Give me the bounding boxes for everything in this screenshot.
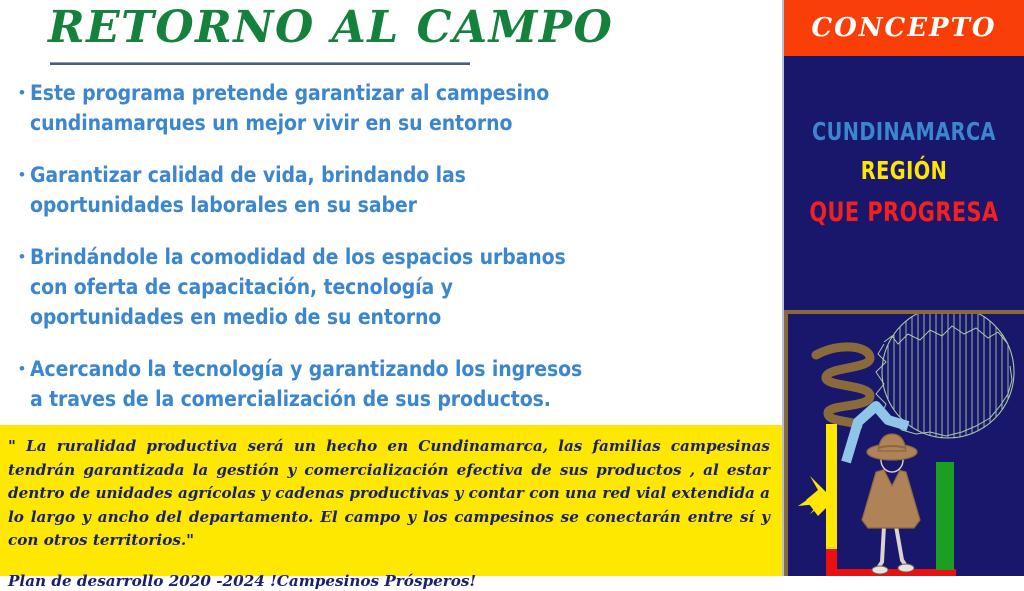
quote-body: " La ruralidad productiva será un hecho … <box>8 435 770 553</box>
sidebar: CONCEPTO CUNDINAMARCA REGIÓN QUE PROGRES… <box>782 0 1024 576</box>
logo-line-cundinamarca: CUNDINAMARCA <box>801 116 1007 147</box>
bullet-text: Acercando la tecnología y garantizando l… <box>30 354 582 414</box>
campesino-illustration <box>784 310 1024 576</box>
red-horizontal-bar <box>826 569 956 576</box>
bullet-marker-icon: • <box>14 354 30 384</box>
bullet-text: Garantizar calidad de vida, brindando la… <box>30 160 466 220</box>
concepto-label: CONCEPTO <box>811 13 996 43</box>
bullet-marker-icon: • <box>14 78 30 108</box>
bullet-text: Este programa pretende garantizar al cam… <box>30 78 549 138</box>
title-divider <box>50 62 470 65</box>
bullet-list: • Este programa pretende garantizar al c… <box>14 78 714 436</box>
page-title: RETORNO AL CAMPO <box>48 2 613 53</box>
bullet-text: Brindándole la comodidad de los espacios… <box>30 242 566 332</box>
list-item: • Este programa pretende garantizar al c… <box>14 78 714 138</box>
logo-line-que-progresa: QUE PROGRESA <box>801 196 1007 230</box>
slide-root: RETORNO AL CAMPO • Este programa pretend… <box>0 0 1024 576</box>
list-item: • Brindándole la comodidad de los espaci… <box>14 242 714 332</box>
green-vertical-bar <box>936 462 954 570</box>
quote-callout: " La ruralidad productiva será un hecho … <box>0 425 782 576</box>
cundinamarca-logo: CUNDINAMARCA REGIÓN QUE PROGRESA <box>784 116 1024 229</box>
bullet-marker-icon: • <box>14 242 30 272</box>
concepto-banner: CONCEPTO <box>784 0 1024 56</box>
bullet-marker-icon: • <box>14 160 30 190</box>
yellow-vertical-bar <box>826 424 837 549</box>
list-item: • Acercando la tecnología y garantizando… <box>14 354 714 414</box>
content-pane: RETORNO AL CAMPO • Este programa pretend… <box>0 0 782 576</box>
quote-signature: Plan de desarrollo 2020 -2024 !Campesino… <box>8 571 770 591</box>
logo-line-region: REGIÓN <box>801 155 1007 186</box>
list-item: • Garantizar calidad de vida, brindando … <box>14 160 714 220</box>
campesino-illustration-svg <box>788 314 1024 576</box>
